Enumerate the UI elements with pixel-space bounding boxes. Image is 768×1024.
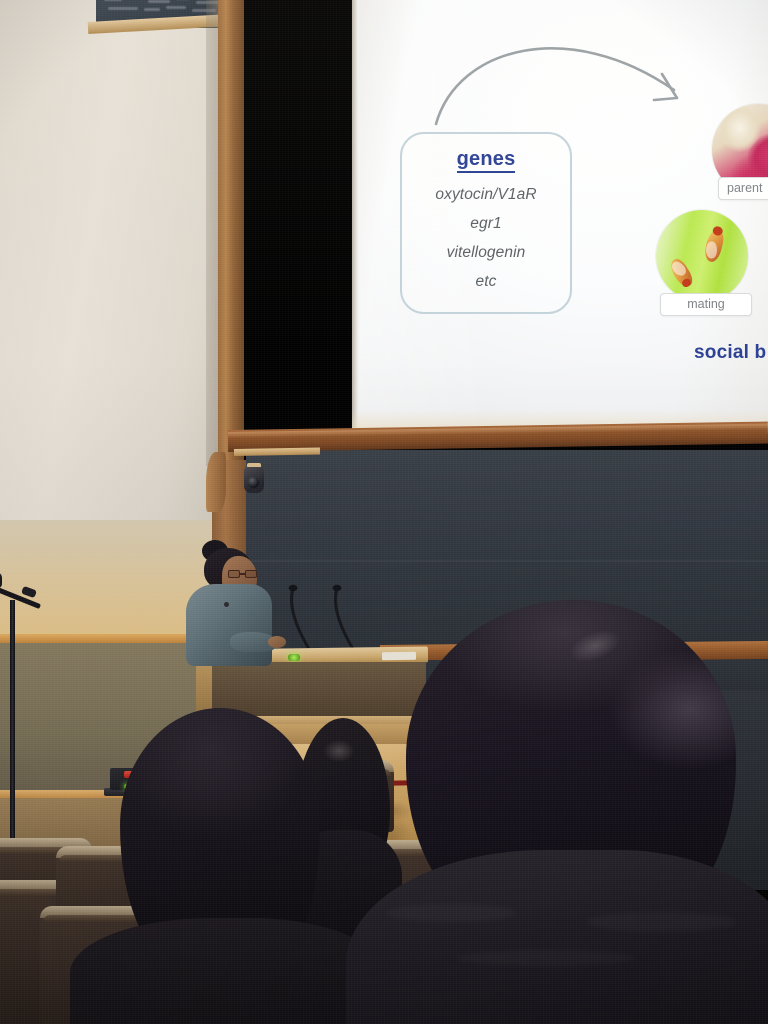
microphone-head bbox=[0, 572, 2, 588]
mic-clip bbox=[21, 586, 37, 598]
audience-left-shoulders bbox=[70, 918, 380, 1024]
parental-care-label: parent bbox=[718, 177, 768, 200]
eyeglasses-icon bbox=[228, 570, 258, 579]
lecture-hall-photo: genes oxytocin/V1aR egr1 vitellogenin et… bbox=[0, 0, 768, 1024]
podium-front-panel bbox=[212, 662, 426, 718]
mic-stand-boom bbox=[0, 584, 41, 609]
microphone-stand[interactable] bbox=[0, 556, 40, 866]
fly-lower bbox=[667, 256, 696, 289]
security-camera-icon bbox=[242, 463, 266, 497]
curved-arrow-icon bbox=[430, 12, 720, 132]
gene-item: etc bbox=[400, 267, 572, 296]
speaker-torso bbox=[186, 584, 272, 666]
left-wall bbox=[0, 0, 232, 560]
mating-label: mating bbox=[660, 293, 752, 316]
genes-heading: genes bbox=[400, 148, 572, 171]
mating-image bbox=[656, 210, 748, 302]
speaker-hand bbox=[268, 636, 286, 648]
chalkboard-seam bbox=[246, 560, 768, 562]
genes-heading-text: genes bbox=[457, 148, 516, 173]
gene-item: vitellogenin bbox=[400, 238, 572, 267]
wood-pillar bbox=[218, 0, 244, 466]
wood-trim-shelf bbox=[234, 447, 320, 455]
gene-item: oxytocin/V1aR bbox=[400, 180, 572, 209]
gene-item: egr1 bbox=[400, 209, 572, 238]
projection-screen: genes oxytocin/V1aR egr1 vitellogenin et… bbox=[352, 0, 768, 434]
genes-list: oxytocin/V1aR egr1 vitellogenin etc bbox=[400, 180, 572, 296]
slide-footer-text: social b bbox=[694, 342, 768, 364]
mating-photo bbox=[656, 210, 748, 302]
podium-paper bbox=[382, 652, 416, 661]
audience-middle-highlight bbox=[318, 736, 360, 766]
fly-upper bbox=[702, 229, 725, 264]
screen-left-edge bbox=[352, 0, 359, 434]
speaker-at-podium bbox=[186, 540, 290, 662]
mic-stand-pole bbox=[10, 600, 15, 866]
wood-pillar-scroll bbox=[206, 452, 226, 512]
camera-lens bbox=[248, 477, 259, 488]
lapel-microphone-icon bbox=[224, 602, 229, 607]
